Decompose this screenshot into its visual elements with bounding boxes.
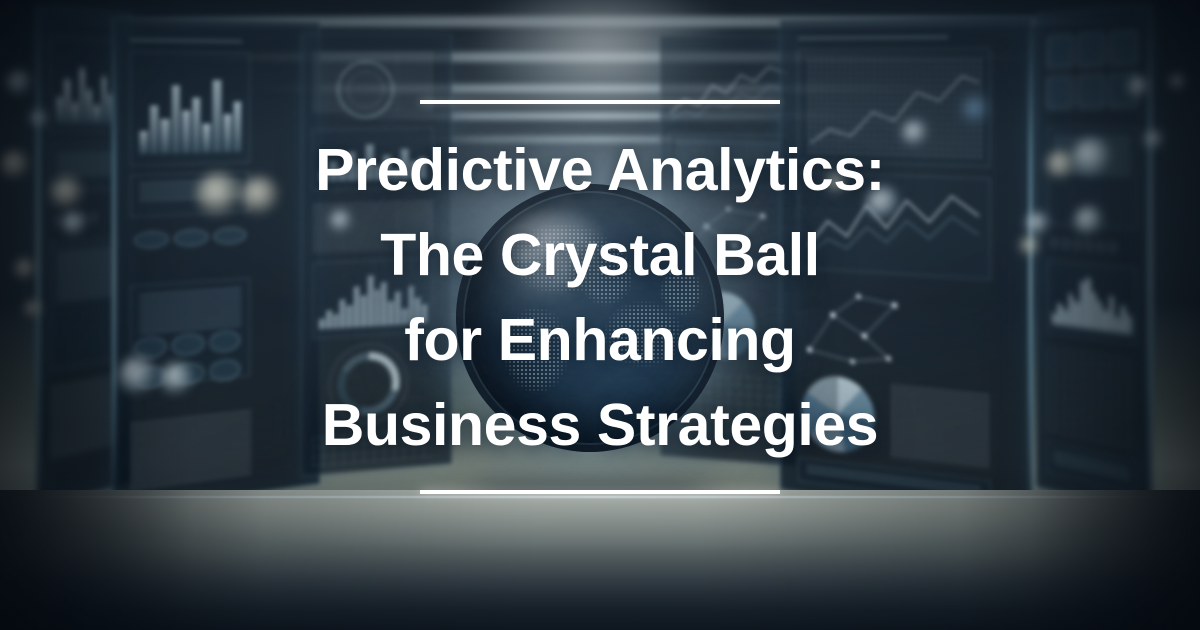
divider-top bbox=[420, 100, 780, 104]
page-title: Predictive Analytics: The Crystal Ball f… bbox=[250, 128, 950, 468]
divider-bottom bbox=[420, 490, 780, 494]
headline-block: Predictive Analytics: The Crystal Ball f… bbox=[0, 100, 1200, 494]
widget-thumbnail-grid bbox=[1047, 30, 1138, 111]
widget-title-bar bbox=[130, 38, 242, 43]
banner-canvas: Predictive Analytics: The Crystal Ball f… bbox=[0, 0, 1200, 630]
widget-title-bar bbox=[798, 35, 948, 39]
floor-vignette bbox=[0, 490, 1200, 630]
